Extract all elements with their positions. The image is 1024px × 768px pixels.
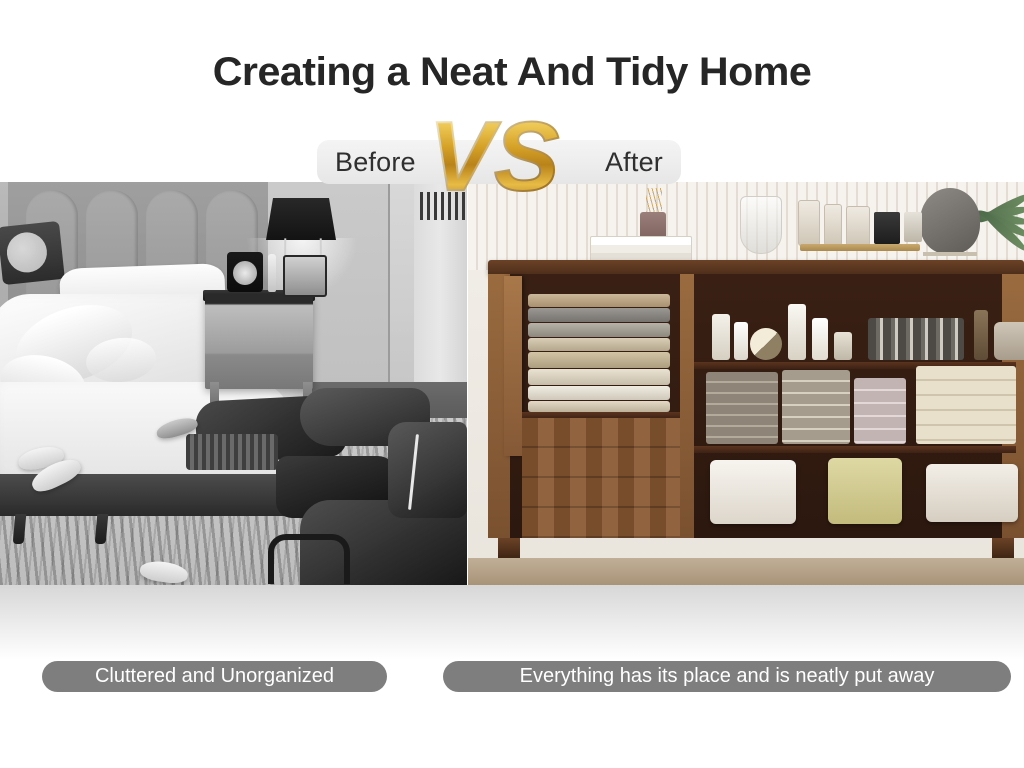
folded-towel-stack xyxy=(916,366,1016,444)
after-caption: Everything has its place and is neatly p… xyxy=(443,661,1011,692)
bottle xyxy=(268,254,276,292)
cabinet-door-open[interactable] xyxy=(504,276,522,456)
candle-holder xyxy=(974,310,988,360)
folded-towel xyxy=(528,369,670,385)
table-lamp-shade xyxy=(266,198,336,240)
white-handbag xyxy=(710,460,796,524)
before-photo xyxy=(0,182,467,585)
folded-towel xyxy=(528,323,670,337)
folded-towel xyxy=(528,338,670,351)
decorative-bust xyxy=(920,188,980,254)
yellow-handbag xyxy=(828,458,902,524)
perfume-bottle xyxy=(846,206,870,246)
folded-towel xyxy=(528,386,670,400)
bottom-gradient-fade xyxy=(0,585,1024,660)
after-label: After xyxy=(605,140,663,184)
storage-basket xyxy=(186,434,278,470)
storage-cabinet xyxy=(488,260,1024,560)
after-photo xyxy=(468,182,1024,585)
wood-floor xyxy=(468,558,1024,585)
perfume-bottle xyxy=(824,204,842,246)
lotion-bottle xyxy=(712,314,730,360)
makeup-brushes xyxy=(874,212,900,244)
folded-towel xyxy=(528,352,670,368)
perfume-bottle xyxy=(798,200,820,246)
cosmetic-case xyxy=(904,212,922,242)
page-title: Creating a Neat And Tidy Home xyxy=(0,50,1024,95)
alarm-clock xyxy=(227,252,263,292)
bust-stand xyxy=(923,252,977,256)
spray-bottle xyxy=(788,304,806,360)
stacked-books xyxy=(590,236,692,262)
brass-tray xyxy=(800,244,920,251)
luggage-handle xyxy=(268,534,350,584)
toiletry-pouch xyxy=(283,255,327,297)
handbag xyxy=(994,322,1024,360)
folded-towel xyxy=(528,308,670,322)
cream-handbag xyxy=(926,464,1018,522)
cabinet-divider xyxy=(680,274,694,538)
curtain-hooks xyxy=(420,192,467,220)
reed-diffuser xyxy=(834,332,852,360)
folded-towel xyxy=(528,401,670,412)
folded-towel-stack xyxy=(782,370,850,444)
lotion-bottle xyxy=(812,318,828,360)
book-set xyxy=(868,318,964,360)
before-caption: Cluttered and Unorganized xyxy=(42,661,387,692)
folded-towel xyxy=(528,294,670,307)
cabinet-shelf xyxy=(694,446,1016,453)
cabinet-top xyxy=(488,260,1024,274)
folded-towel-stack xyxy=(854,378,906,444)
cabinet-drawers[interactable] xyxy=(522,418,680,538)
backpack xyxy=(388,422,467,518)
before-label: Before xyxy=(335,140,416,184)
promo-banner-page: Creating a Neat And Tidy Home Before Aft… xyxy=(0,0,1024,768)
reed-sticks xyxy=(646,188,662,214)
folded-towel-stack xyxy=(706,372,778,444)
comparison-photo-strip xyxy=(0,182,1024,585)
nightstand xyxy=(205,294,313,389)
glass-vase xyxy=(740,196,782,254)
lotion-bottle xyxy=(734,322,748,360)
round-box xyxy=(750,328,782,360)
before-after-banner: Before After xyxy=(317,140,681,184)
decorative-pillow xyxy=(0,221,65,285)
